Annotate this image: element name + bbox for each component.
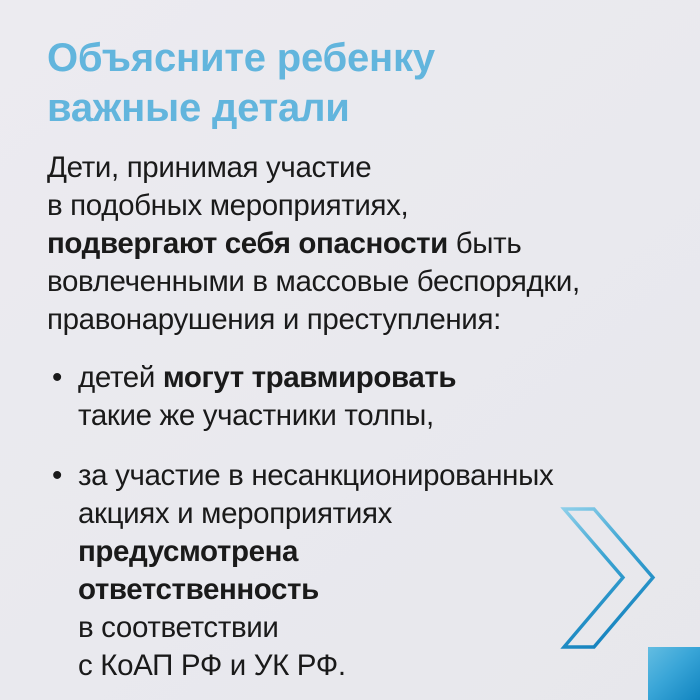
infographic-slide: Объясните ребенку важные детали Дети, пр… (0, 0, 700, 700)
list-item: • детей могут травмировать такие же учас… (47, 359, 690, 435)
slide-content: Объясните ребенку важные детали Дети, пр… (47, 33, 690, 685)
intro-line-5: правонарушения и преступления: (47, 301, 690, 339)
bullet-marker: • (52, 457, 62, 495)
intro-line-3-emphasis: подвергают себя опасности (47, 227, 448, 260)
bullet-1-line-1: детей могут травмировать (78, 359, 690, 397)
bullet-2-line-4-emphasis: ответственность (78, 571, 690, 609)
intro-line-3: подвергают себя опасности быть (47, 225, 690, 263)
intro-line-2: в подобных мероприятиях, (47, 187, 690, 225)
page-title: Объясните ребенку важные детали (47, 33, 567, 133)
bullet-2-line-3-emphasis: предусмотрена (78, 533, 690, 571)
intro-paragraph: Дети, принимая участие в подобных меропр… (47, 149, 690, 339)
page-title-line-1: Объясните ребенку (47, 33, 567, 83)
bullet-2-line-1: за участие в несанкционированных (78, 457, 690, 495)
bullet-1-line-2: такие же участники толпы, (78, 397, 690, 435)
intro-line-4: вовлеченными в массовые беспорядки, (47, 263, 690, 301)
list-item: • за участие в несанкционированных акция… (47, 457, 690, 685)
page-title-line-2: важные детали (47, 83, 567, 133)
intro-line-3-tail: быть (448, 227, 521, 260)
bullet-marker: • (52, 359, 62, 397)
bullet-1-line-1-plain: детей (78, 361, 163, 394)
intro-line-1: Дети, принимая участие (47, 149, 690, 187)
bullet-2-line-6: с КоАП РФ и УК РФ. (78, 647, 690, 685)
bullet-1-line-1-emphasis: могут травмировать (163, 361, 456, 394)
bullet-2-line-5: в соответствии (78, 609, 690, 647)
corner-accent-square (648, 647, 700, 700)
bullet-2-line-2: акциях и мероприятиях (78, 495, 690, 533)
risk-list: • детей могут травмировать такие же учас… (47, 359, 690, 685)
